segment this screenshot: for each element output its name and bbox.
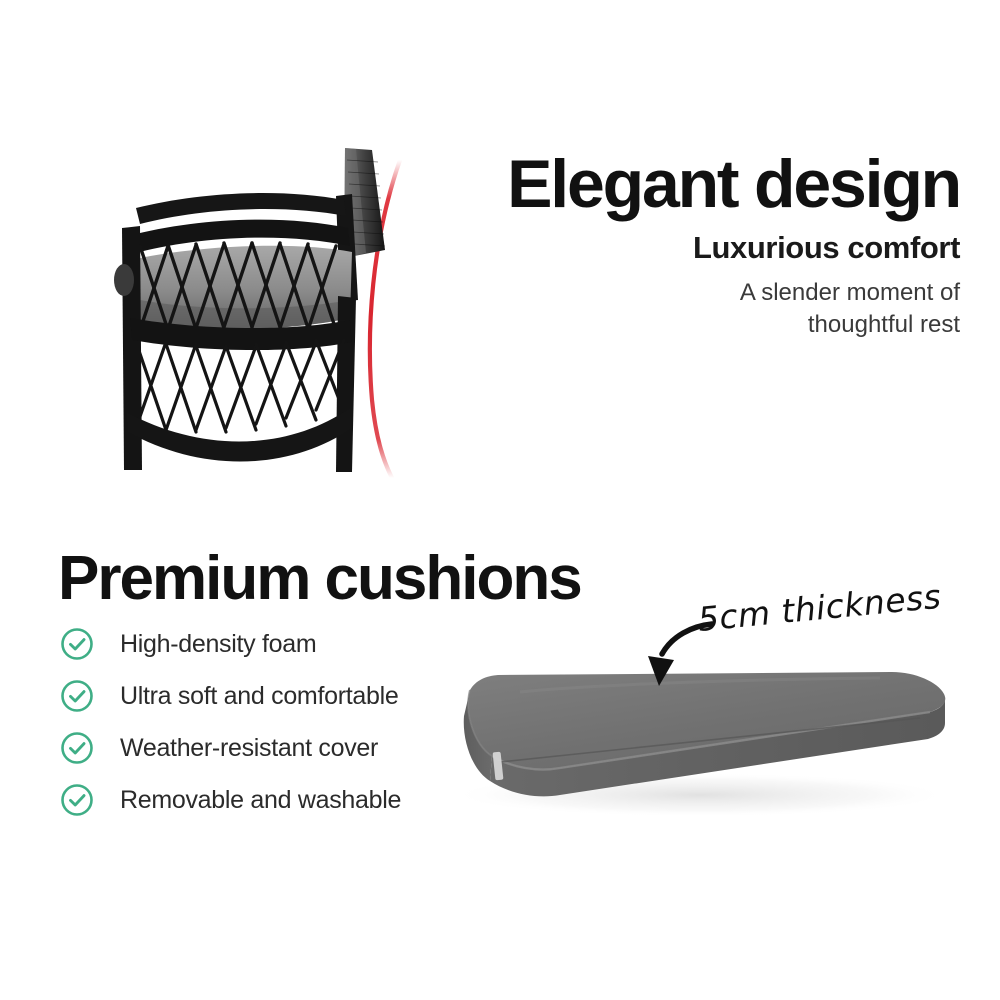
cushion-zipper-line <box>500 718 920 762</box>
check-circle-icon <box>60 627 94 661</box>
chair-lower-lattice <box>136 340 344 432</box>
chair-cushion-shadow <box>140 300 350 329</box>
grey-cushion-image <box>450 672 950 817</box>
chair-arm-rail <box>128 220 350 254</box>
chair-front-post <box>122 226 142 470</box>
cushion-top-highlight <box>520 678 880 692</box>
chair-rear-post <box>336 194 358 302</box>
chair-backrest <box>344 148 385 258</box>
elegant-design-description: A slender moment of thoughtful rest <box>440 277 960 340</box>
feature-list: High-density foam Ultra soft and comfort… <box>60 618 480 826</box>
product-infographic: Elegant design Luxurious comfort A slend… <box>0 0 1000 1000</box>
chair-bottom-arch-rail <box>126 408 352 462</box>
elegant-design-title: Elegant design <box>440 150 960 218</box>
feature-label: Ultra soft and comfortable <box>120 682 398 711</box>
elegant-design-subtitle: Luxurious comfort <box>440 232 960 263</box>
description-line-2: thoughtful rest <box>808 311 960 338</box>
chair-back-post <box>336 296 356 472</box>
cushion-top-face <box>468 672 945 770</box>
check-circle-icon <box>60 731 94 765</box>
cushion-ground-shadow <box>450 773 950 817</box>
check-circle-icon <box>60 783 94 817</box>
feature-label: Weather-resistant cover <box>120 734 378 763</box>
thickness-callout-label: 5cm thickness <box>696 577 943 639</box>
chair-top-rail <box>136 193 346 224</box>
chair-seat-rail <box>130 318 352 350</box>
chair-seat-cushion <box>140 246 352 329</box>
premium-cushions-title: Premium cushions <box>58 548 581 610</box>
rattan-armchair-image <box>114 148 385 472</box>
cushion-front-face <box>490 697 945 796</box>
list-item: High-density foam <box>60 618 480 670</box>
cushion-zipper-pull <box>493 752 504 781</box>
feature-label: Removable and washable <box>120 786 401 815</box>
elegant-design-block: Elegant design Luxurious comfort A slend… <box>440 150 960 340</box>
list-item: Weather-resistant cover <box>60 722 480 774</box>
list-item: Ultra soft and comfortable <box>60 670 480 722</box>
check-circle-icon <box>60 679 94 713</box>
list-item: Removable and washable <box>60 774 480 826</box>
chair-upper-lattice <box>140 243 336 330</box>
description-line-1: A slender moment of <box>740 279 960 306</box>
feature-label: High-density foam <box>120 630 316 659</box>
cushion-piping-seam <box>492 712 930 770</box>
red-accent-curve <box>370 160 400 478</box>
chair-armrest-knob <box>114 264 134 296</box>
